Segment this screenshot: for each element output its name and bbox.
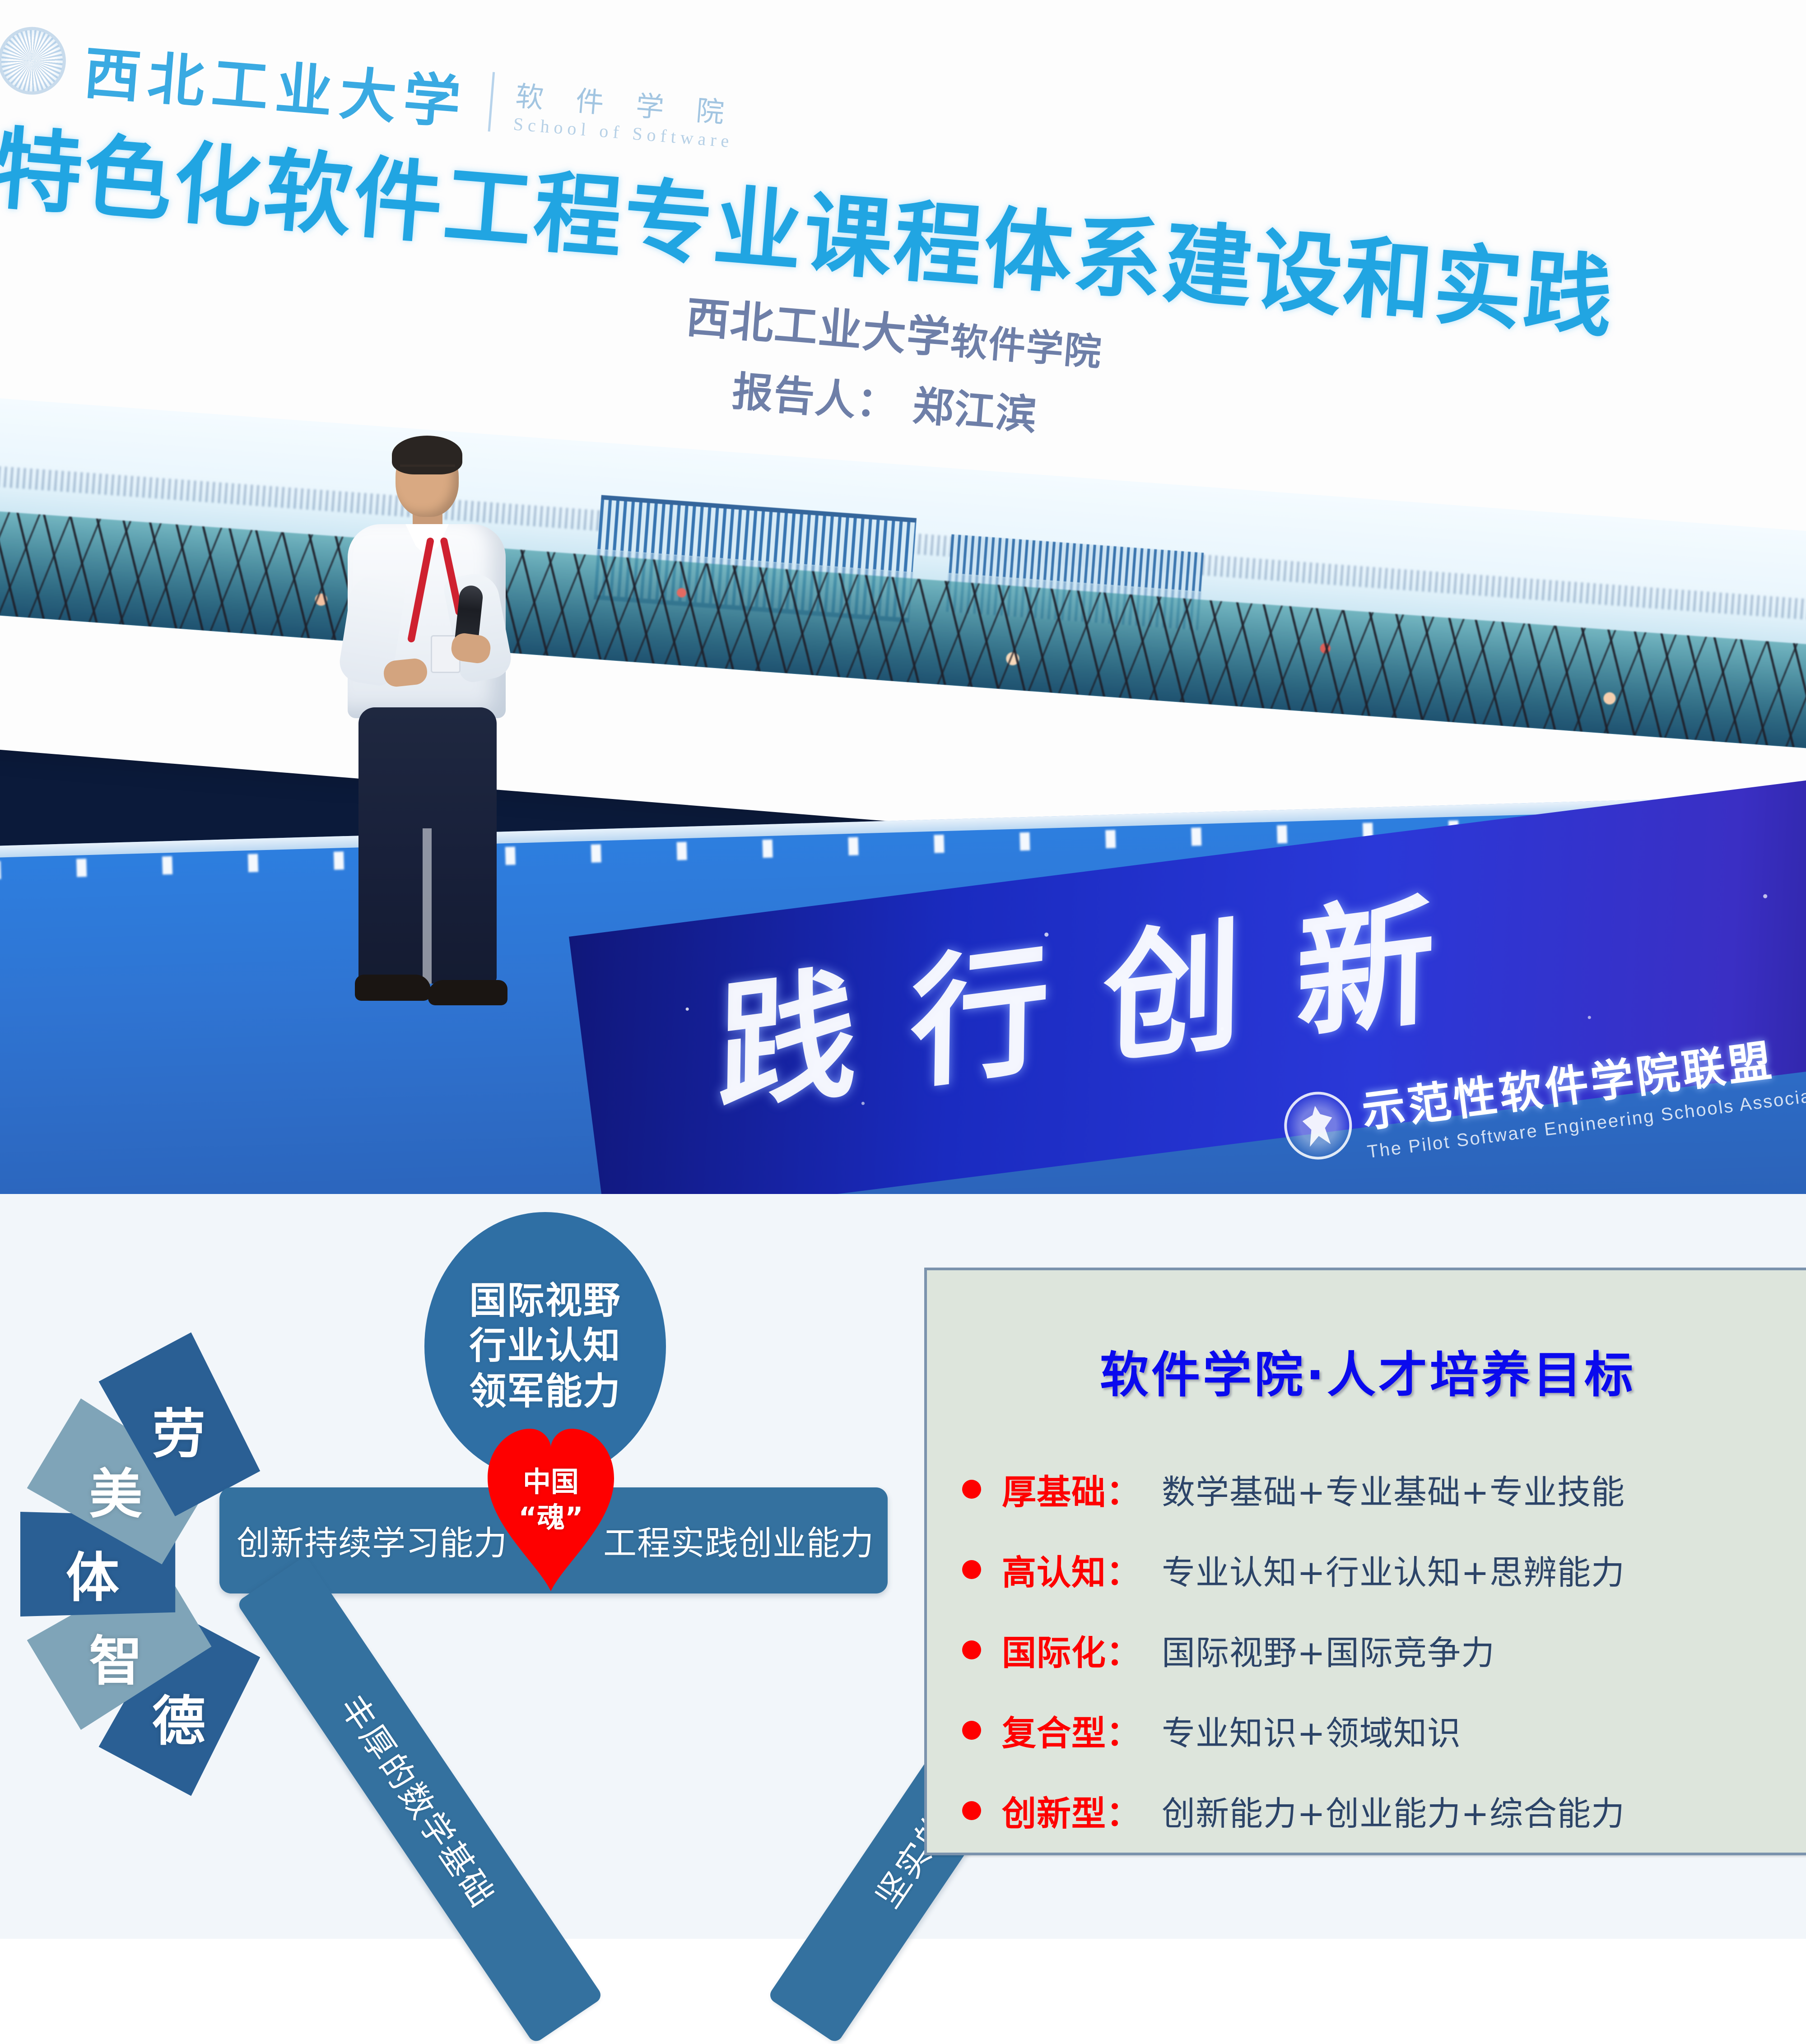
conference-photo: 西北工业大学 软 件 学 院 School of Software 特色化软件工…	[0, 0, 1806, 1194]
training-goal-item: 国际化：国际视野+国际竞争力	[962, 1625, 1806, 1675]
training-goal-value: 专业认知+行业认知+思辨能力	[1162, 1546, 1625, 1594]
capability-oval-text: 国际视野 行业认知 领军能力	[469, 1278, 621, 1414]
oval-line-3: 领军能力	[469, 1369, 621, 1414]
university-name: 西北工业大学	[82, 45, 470, 132]
speaker-leg-gap	[423, 828, 432, 984]
training-goal-value: 创新能力+创业能力+综合能力	[1162, 1787, 1625, 1835]
heart-text: 中国 “魂”	[488, 1464, 614, 1536]
training-goal-value: 数学基础+专业基础+专业技能	[1162, 1465, 1625, 1514]
chinese-soul-heart: 中国 “魂”	[488, 1429, 614, 1591]
university-seal-icon	[0, 24, 69, 98]
bullet-dot-icon	[962, 1801, 981, 1820]
speaker-figure	[316, 440, 524, 1013]
bar-label-right: 工程实践创业能力	[603, 1487, 874, 1593]
bullet-dot-icon	[962, 1480, 981, 1499]
training-goals-panel: 软件学院·人才培养目标 厚基础：数学基础+专业基础+专业技能高认知：专业认知+行…	[924, 1268, 1806, 1855]
slide-content-area: 德智体美劳 国际视野 行业认知 领军能力 创新持续学习能力 工程实践创业能力 丰…	[0, 1194, 1806, 1939]
led-presentation-screen: 西北工业大学 软 件 学 院 School of Software 特色化软件工…	[0, 0, 1806, 913]
oval-line-2: 行业认知	[469, 1324, 621, 1369]
training-goal-value: 专业知识+领域知识	[1162, 1706, 1461, 1755]
arc-segment-label: 劳	[152, 1391, 205, 1468]
bullet-dot-icon	[962, 1721, 981, 1740]
logo-divider	[488, 72, 495, 132]
campus-photo-band	[0, 377, 1806, 769]
training-goal-item: 厚基础：数学基础+专业基础+专业技能	[962, 1464, 1806, 1514]
training-goal-item: 高认知：专业认知+行业认知+思辨能力	[962, 1545, 1806, 1594]
slide-speaker-line: 报告人： 郑江滨	[731, 358, 1040, 441]
training-goal-key: 国际化：	[1002, 1625, 1141, 1675]
bullet-dot-icon	[962, 1640, 981, 1659]
training-goal-item: 创新型：创新能力+创业能力+综合能力	[962, 1786, 1806, 1835]
speaker-right-shoe	[428, 980, 507, 1005]
heart-line-1: 中国	[488, 1464, 614, 1500]
speaker-glasses-icon	[400, 465, 455, 474]
speaker-left-shoe	[355, 975, 431, 1001]
training-goal-key: 复合型：	[1002, 1705, 1141, 1755]
training-goal-value: 国际视野+国际竞争力	[1162, 1626, 1495, 1674]
slide-organization-school: 软件学院	[949, 320, 1104, 375]
training-goal-item: 复合型：专业知识+领域知识	[962, 1705, 1806, 1755]
training-goal-key: 厚基础：	[1002, 1464, 1141, 1514]
alliance-seal-icon	[1280, 1088, 1356, 1164]
panel-title: 软件学院·人才培养目标	[927, 1336, 1806, 1406]
school-name-block: 软 件 学 院 School of Software	[512, 81, 737, 152]
heart-line-2: “魂”	[488, 1500, 614, 1535]
training-goal-key: 高认知：	[1002, 1545, 1141, 1594]
training-goal-key: 创新型：	[1002, 1786, 1141, 1835]
bullet-dot-icon	[962, 1560, 981, 1579]
oval-line-1: 国际视野	[469, 1278, 621, 1324]
training-goals-list: 厚基础：数学基础+专业基础+专业技能高认知：专业认知+行业认知+思辨能力国际化：…	[962, 1464, 1806, 1866]
slide-organization-university: 西北工业大学	[684, 292, 953, 364]
